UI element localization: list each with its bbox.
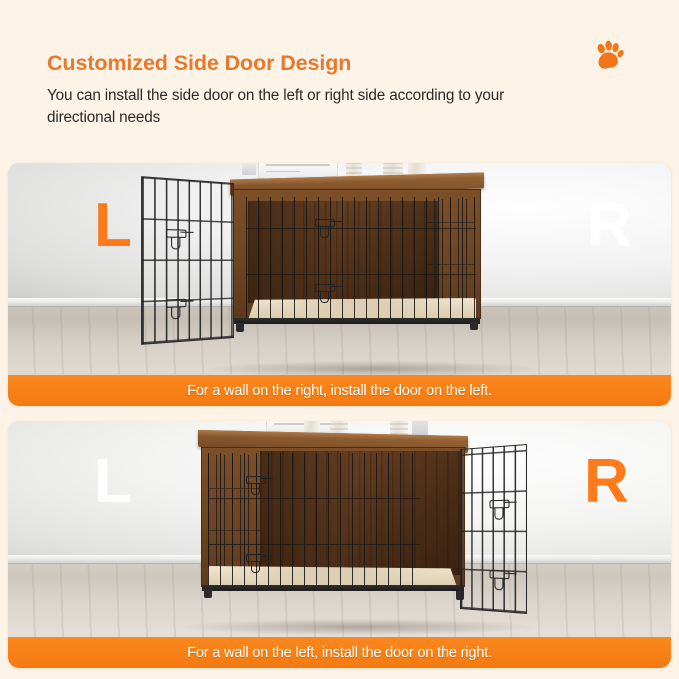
side-door-latch-lower[interactable]	[166, 296, 187, 320]
crate-foot-left	[236, 323, 244, 332]
infographic-page: Customized Side Door Design You can inst…	[0, 0, 679, 679]
crate-foot-right	[470, 321, 478, 330]
side-door-latch-upper[interactable]	[166, 226, 187, 250]
caption-bar-panel-2: For a wall on the left, install the door…	[8, 637, 671, 668]
page-title: Customized Side Door Design	[47, 51, 351, 76]
detached-side-door-right[interactable]	[460, 444, 527, 614]
caption-text-panel-1: For a wall on the right, install the doo…	[187, 383, 492, 399]
side-door-latch-lower[interactable]	[490, 567, 510, 591]
caption-text-panel-2: For a wall on the left, install the door…	[187, 645, 492, 661]
crate-bottom-rail	[202, 585, 464, 591]
crate-front-mesh	[208, 453, 420, 591]
letter-right-inactive: R	[587, 195, 631, 257]
crate-latch-lower[interactable]	[315, 281, 335, 303]
crate-foot-left	[204, 589, 212, 598]
paw-print-icon	[592, 39, 626, 73]
crate-floor-shadow	[183, 619, 533, 635]
side-door-latch-upper[interactable]	[490, 497, 510, 520]
crate-front-mesh	[246, 197, 476, 321]
letter-left-inactive: L	[94, 451, 131, 513]
crate-bottom-rail	[234, 318, 480, 324]
header: Customized Side Door Design You can inst…	[0, 0, 679, 160]
detached-side-door-left[interactable]	[141, 176, 234, 345]
page-subtitle: You can install the side door on the lef…	[47, 85, 567, 128]
letter-left-active: L	[94, 195, 131, 257]
caption-bar-panel-1: For a wall on the right, install the doo…	[8, 375, 671, 406]
crate-latch-upper[interactable]	[246, 473, 266, 495]
product-photo-right-door: L R	[8, 421, 671, 637]
panel-left-door[interactable]: L R	[8, 163, 671, 406]
crate-latch-lower[interactable]	[246, 551, 266, 573]
product-photo-left-door: L R	[8, 163, 671, 375]
crate-floor-shadow	[208, 361, 538, 375]
letter-right-active: R	[584, 451, 628, 513]
panel-right-door[interactable]: L R	[8, 421, 671, 668]
decor-cube	[412, 421, 428, 435]
decor-vase-striped-tall	[390, 421, 408, 435]
decor-cube	[242, 163, 256, 175]
crate-latch-upper[interactable]	[315, 216, 335, 238]
